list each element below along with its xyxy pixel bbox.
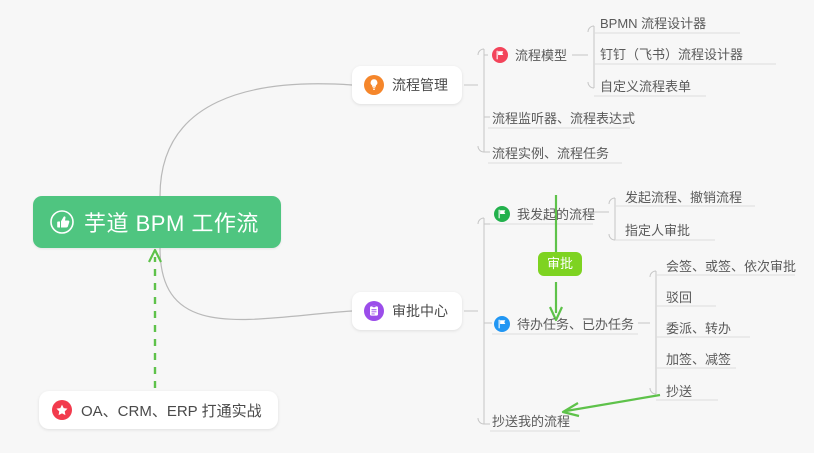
branch-node-approval-center[interactable]: 审批中心 [352,292,462,330]
branch-label-approval-center: 审批中心 [392,301,448,321]
edge-todo-done-bracket [650,271,656,394]
edge-my-started-bracket [609,198,615,240]
tag-approval[interactable]: 审批 [538,252,582,276]
note-card-label: OA、CRM、ERP 打通实战 [81,400,262,421]
root-node[interactable]: 芋道 BPM 工作流 [33,196,281,248]
leaf-node-bpmn-designer[interactable]: BPMN 流程设计器 [600,13,706,37]
sub-node-process-model[interactable]: 流程模型 [492,45,567,64]
flag-icon [494,316,510,332]
leaf-node-custom-process-form[interactable]: 自定义流程表单 [600,76,691,100]
sub-label-process-model: 流程模型 [515,45,567,64]
leaf-node-dingtalk-feishu-designer[interactable]: 钉钉（飞书）流程设计器 [600,44,743,68]
note-card-integration[interactable]: OA、CRM、ERP 打通实战 [39,391,278,429]
edge-process-model-bracket [588,26,594,88]
arrow-up-dashed-icon [149,250,161,262]
cc-arrow-line [566,395,660,411]
root-node-label: 芋道 BPM 工作流 [84,206,259,238]
flag-icon [494,206,510,222]
sub-label-my-started-process: 我发起的流程 [517,204,595,223]
thumbs-up-icon [50,210,74,234]
branch-node-process-management[interactable]: 流程管理 [352,66,462,104]
leaf-node-reject[interactable]: 驳回 [666,287,692,311]
leaf-node-process-instance-task[interactable]: 流程实例、流程任务 [492,143,609,167]
leaf-node-start-cancel-process[interactable]: 发起流程、撤销流程 [625,187,742,211]
leaf-node-add-remove-sign[interactable]: 加签、减签 [666,349,731,373]
clipboard-icon [364,301,384,321]
leaf-node-delegate-transfer[interactable]: 委派、转办 [666,318,731,342]
sub-label-todo-done-task: 待办任务、已办任务 [517,314,634,333]
flag-icon [492,47,508,63]
mindmap-canvas[interactable]: 芋道 BPM 工作流 流程管理 流程模型 BPMN 流程设计器 钉钉（飞书）流程… [0,0,814,453]
leaf-node-multi-sign-approval[interactable]: 会签、或签、依次审批 [666,256,796,280]
sub-node-my-started-process[interactable]: 我发起的流程 [494,204,595,223]
leaf-node-carbon-copy[interactable]: 抄送 [666,381,692,405]
star-icon [52,400,72,420]
edge-root-to-process-management [160,84,352,196]
edge-approval-center-bracket [478,218,484,424]
leaf-node-assignee-approval[interactable]: 指定人审批 [625,220,690,244]
sub-node-todo-done-task[interactable]: 待办任务、已办任务 [494,314,634,333]
edge-root-to-approval-center [160,248,352,319]
leaf-node-cc-to-me-process[interactable]: 抄送我的流程 [492,411,570,435]
branch-label-process-management: 流程管理 [392,75,448,95]
leaf-node-process-listener-expression[interactable]: 流程监听器、流程表达式 [492,108,635,132]
lightbulb-icon [364,75,384,95]
edge-process-management-bracket [478,49,484,152]
